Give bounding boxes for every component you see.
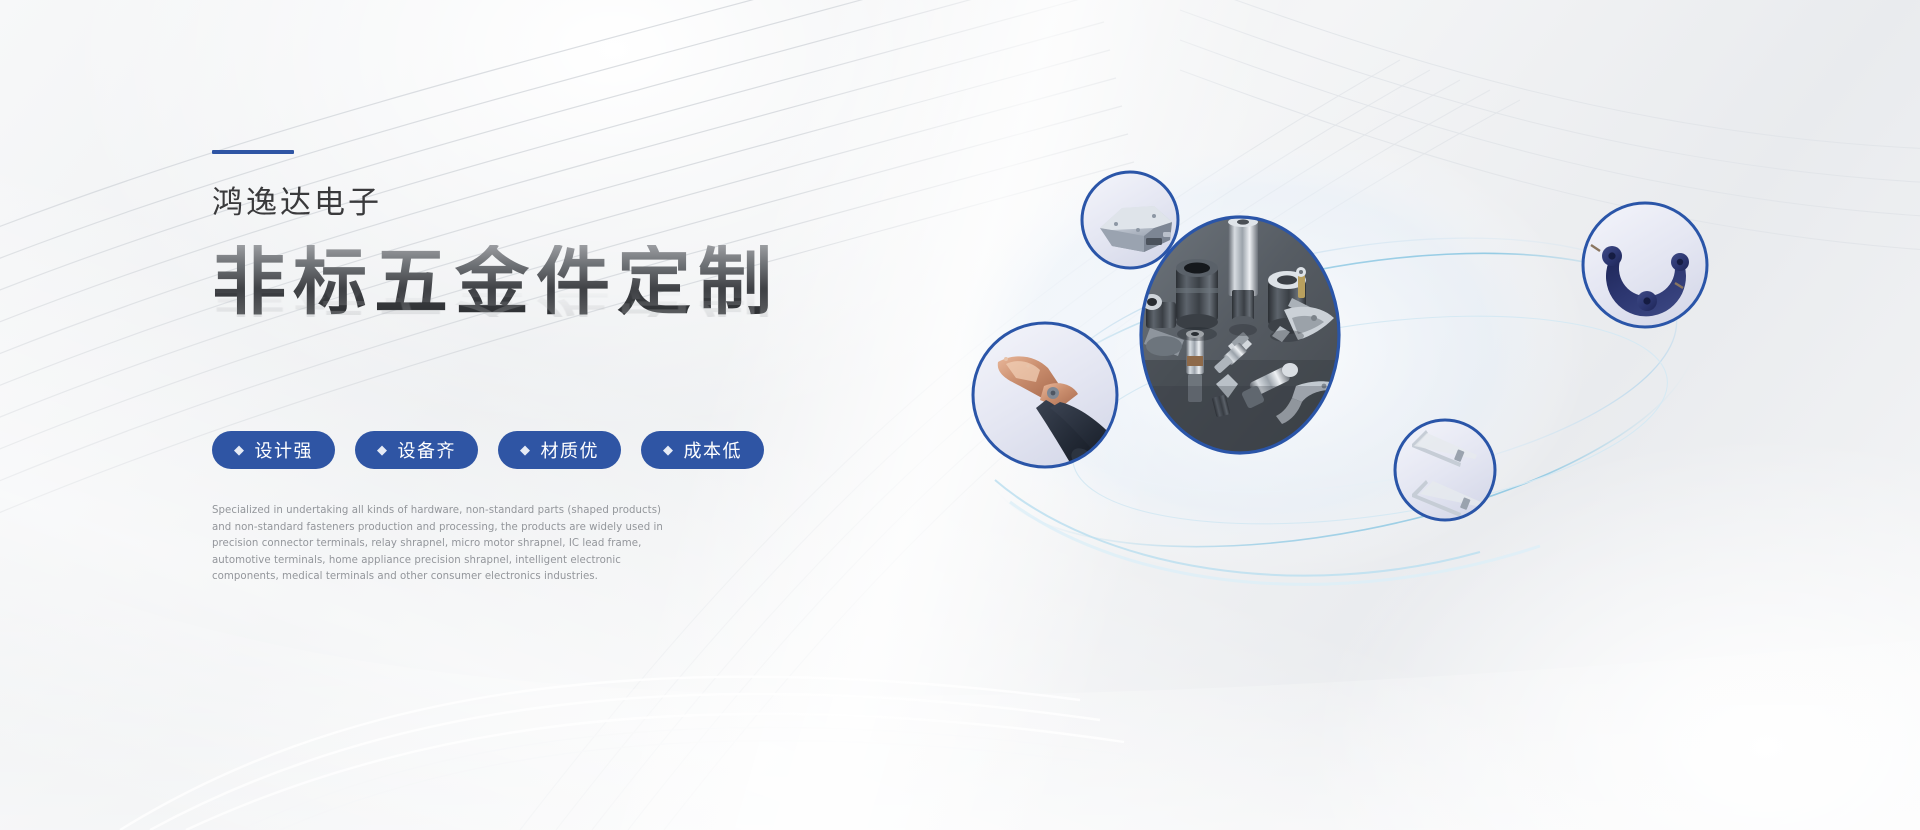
hero-banner: 鸿逸达电子 非标五金件定制 非标五金件定制 ◆ 设计强 ◆ 设备齐 ◆ 材质优 … <box>0 0 1920 830</box>
feature-pill-list: ◆ 设计强 ◆ 设备齐 ◆ 材质优 ◆ 成本低 <box>212 431 852 469</box>
feature-pill-equipment[interactable]: ◆ 设备齐 <box>355 431 478 469</box>
feature-pill-design[interactable]: ◆ 设计强 <box>212 431 335 469</box>
headline-wrap: 非标五金件定制 非标五金件定制 <box>212 245 852 373</box>
diamond-icon: ◆ <box>663 444 675 457</box>
feature-pill-cost[interactable]: ◆ 成本低 <box>641 431 764 469</box>
product-showcase <box>940 150 1890 670</box>
diamond-icon: ◆ <box>377 444 389 457</box>
feature-pill-label: 材质优 <box>541 437 600 463</box>
hero-copy: 鸿逸达电子 非标五金件定制 非标五金件定制 ◆ 设计强 ◆ 设备齐 ◆ 材质优 … <box>212 150 852 586</box>
bubble-metal-enclosure-box <box>1082 172 1178 268</box>
center-product-circle <box>1141 217 1339 453</box>
accent-rule <box>212 150 294 154</box>
brand-name: 鸿逸达电子 <box>212 188 852 219</box>
feature-pill-label: 成本低 <box>684 437 743 463</box>
feature-pill-label: 设计强 <box>255 437 314 463</box>
bubble-blue-retaining-ring <box>1583 203 1707 327</box>
headline-reflection: 非标五金件定制 <box>212 276 779 317</box>
feature-pill-label: 设备齐 <box>398 437 457 463</box>
description-paragraph: Specialized in undertaking all kinds of … <box>212 503 682 586</box>
diamond-icon: ◆ <box>520 444 532 457</box>
diamond-icon: ◆ <box>234 444 246 457</box>
bubble-bent-metal-brackets <box>1395 420 1495 520</box>
feature-pill-material[interactable]: ◆ 材质优 <box>498 431 621 469</box>
